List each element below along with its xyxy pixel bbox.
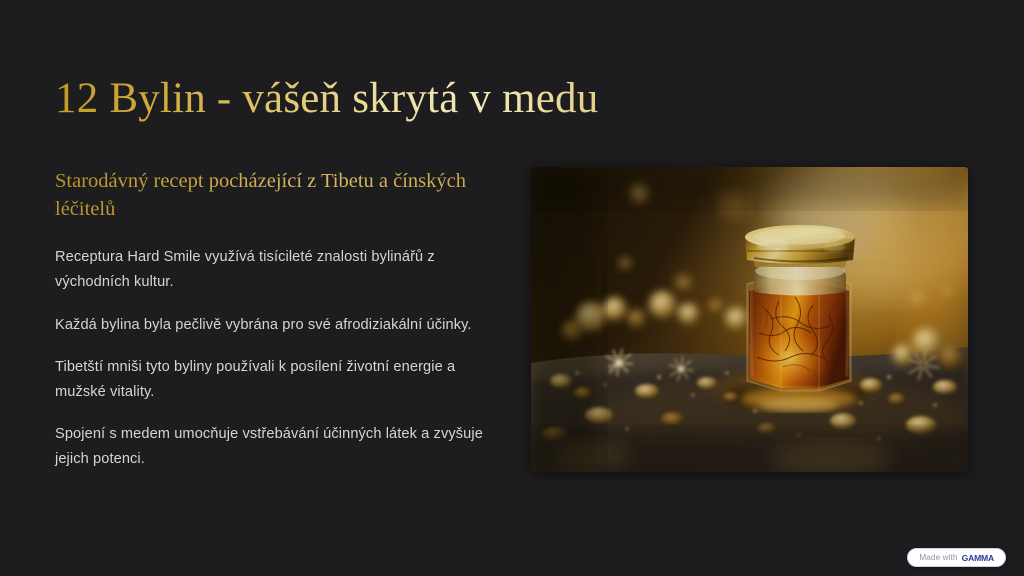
body-paragraph-2: Každá bylina byla pečlivě vybrána pro sv… <box>55 313 495 338</box>
body-paragraph-1: Receptura Hard Smile využívá tisícileté … <box>55 245 495 295</box>
body-paragraph-3: Tibetští mniši tyto byliny používali k p… <box>55 355 495 405</box>
gamma-brand-label: GAMMA <box>962 553 994 563</box>
body-paragraph-4: Spojení s medem umocňuje vstřebávání úči… <box>55 422 495 472</box>
text-column: Starodávný recept pocházející z Tibetu a… <box>55 168 495 472</box>
honey-jar-image <box>531 167 968 472</box>
made-with-gamma-badge[interactable]: Made with GAMMA <box>907 548 1006 567</box>
slide-title: 12 Bylin - vášeň skrytá v medu <box>55 74 598 123</box>
slide-subtitle: Starodávný recept pocházející z Tibetu a… <box>55 168 495 223</box>
badge-prefix-label: Made with <box>919 553 957 562</box>
honey-jar-illustration <box>531 167 968 472</box>
presentation-slide: 12 Bylin - vášeň skrytá v medu Starodávn… <box>0 0 1024 576</box>
